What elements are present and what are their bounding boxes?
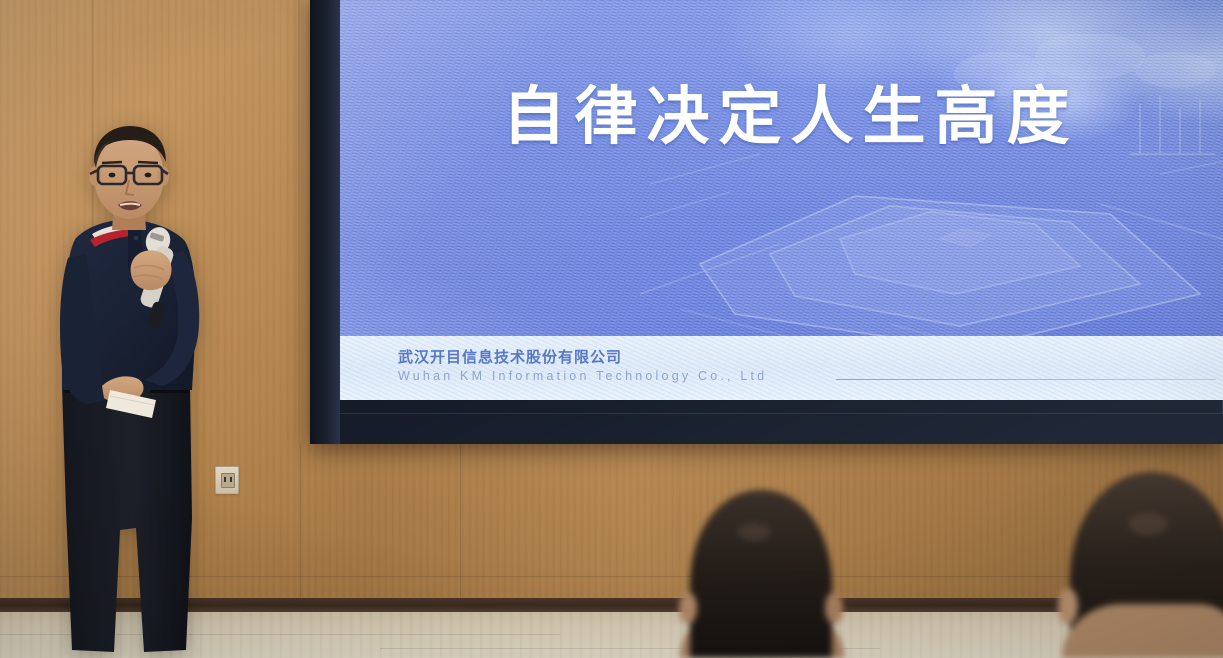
presenter-figure: [40, 118, 270, 658]
presentation-slide: 自律决定人生高度 武汉开目信息技术股份有限公司 Wuhan KM Informa…: [340, 0, 1223, 400]
presentation-photo-scene: 自律决定人生高度 武汉开目信息技术股份有限公司 Wuhan KM Informa…: [0, 0, 1223, 658]
footer-company-name-cn: 武汉开目信息技术股份有限公司: [398, 346, 622, 367]
audience-member: [668, 458, 854, 658]
screen-bezel-left: [310, 0, 340, 444]
audience-member: [1040, 438, 1223, 658]
footer-divider-rule: [836, 379, 1216, 380]
presenter-hand-upper: [131, 250, 172, 290]
presenter-pants: [62, 386, 192, 652]
slide-footer-band: 武汉开目信息技术股份有限公司 Wuhan KM Information Tech…: [340, 336, 1223, 400]
footer-company-name-en: Wuhan KM Information Technology Co., Ltd: [398, 369, 767, 383]
wall-panel-edge: [460, 443, 461, 603]
slide-title: 自律决定人生高度: [340, 66, 1223, 157]
wall-panel-edge: [300, 443, 301, 603]
